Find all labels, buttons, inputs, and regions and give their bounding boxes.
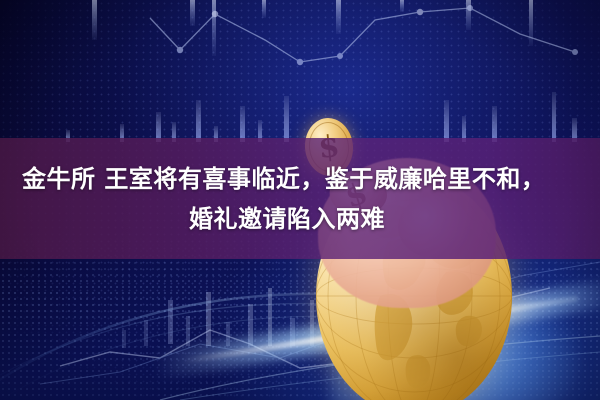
vignette-overlay: [0, 0, 600, 400]
news-thumbnail-banner: $ $ 金牛所 王室将有喜事临近，鉴于威廉哈里不和， 婚礼邀请陷入两难: [0, 0, 600, 400]
